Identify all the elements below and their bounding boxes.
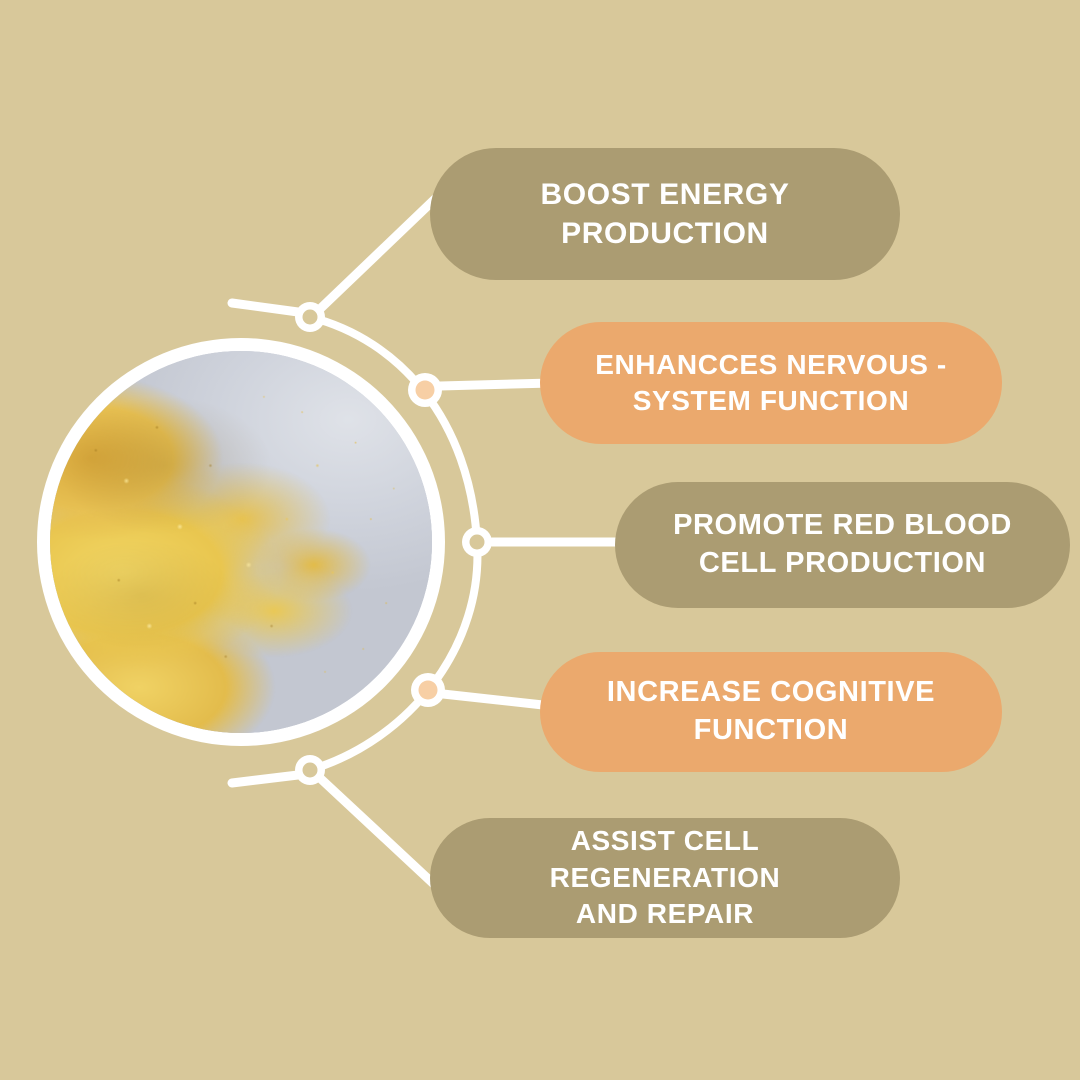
product-photo-image	[50, 351, 432, 733]
photo-powder-granules	[50, 351, 432, 733]
connector-node-3[interactable]	[462, 527, 492, 557]
benefit-label-5: ASSIST CELL REGENERATION AND REPAIR	[456, 823, 874, 932]
benefit-label-1: BOOST ENERGY PRODUCTION	[541, 175, 790, 253]
connector-branch-4	[443, 694, 552, 706]
product-photo-circle	[37, 338, 445, 746]
benefit-pill-2[interactable]: ENHANCCES NERVOUS - SYSTEM FUNCTION	[540, 322, 1002, 444]
connector-node-1[interactable]	[295, 302, 325, 332]
benefit-label-3: PROMOTE RED BLOOD CELL PRODUCTION	[673, 507, 1012, 582]
benefit-pill-3[interactable]: PROMOTE RED BLOOD CELL PRODUCTION	[615, 482, 1070, 608]
benefit-label-4: INCREASE COGNITIVE FUNCTION	[607, 674, 935, 749]
connector-stub-1	[232, 303, 298, 312]
connector-node-5[interactable]	[295, 755, 325, 785]
connector-branch-1	[321, 196, 438, 308]
connector-branch-5	[321, 779, 438, 888]
connector-stub-5	[232, 775, 298, 783]
benefit-pill-1[interactable]: BOOST ENERGY PRODUCTION	[430, 148, 900, 280]
benefit-pill-4[interactable]: INCREASE COGNITIVE FUNCTION	[540, 652, 1002, 772]
connector-branch-2	[440, 383, 552, 386]
benefit-label-2: ENHANCCES NERVOUS - SYSTEM FUNCTION	[595, 347, 947, 420]
benefit-pill-5[interactable]: ASSIST CELL REGENERATION AND REPAIR	[430, 818, 900, 938]
benefits-infographic: BOOST ENERGY PRODUCTION ENHANCCES NERVOU…	[0, 0, 1080, 1080]
